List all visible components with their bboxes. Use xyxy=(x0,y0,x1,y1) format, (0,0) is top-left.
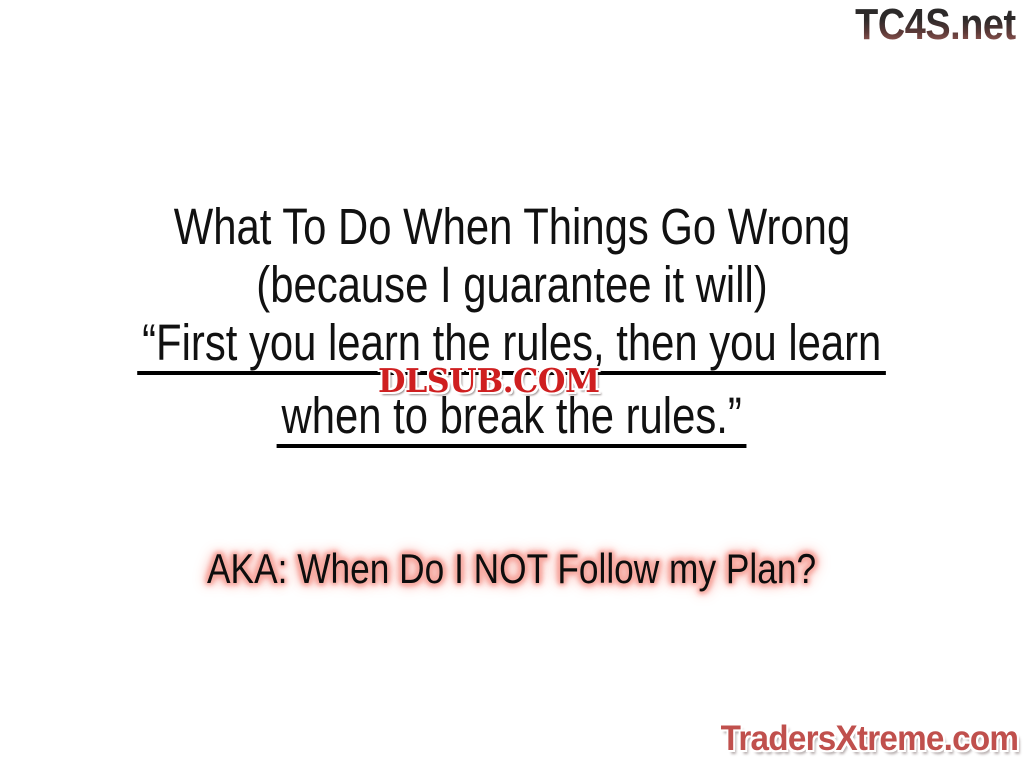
dlsub-overlay-watermark: DLSUB.COM xyxy=(378,364,600,398)
quote-line-2: when to break the rules.” xyxy=(277,393,747,448)
slide-main-text-block: What To Do When Things Go Wrong (because… xyxy=(0,198,1024,448)
aka-subtitle-text: AKA: When Do I NOT Follow my Plan? xyxy=(207,545,816,593)
slide-title-line-2: (because I guarantee it will) xyxy=(92,256,932,314)
slide-title-line-1: What To Do When Things Go Wrong xyxy=(92,198,932,256)
aka-subtitle-container: AKA: When Do I NOT Follow my Plan? xyxy=(0,545,1024,593)
presentation-slide: TC4S.net What To Do When Things Go Wrong… xyxy=(0,0,1024,768)
tc4s-site-watermark: TC4S.net xyxy=(855,2,1016,48)
quote-line-2-container: when to break the rules.” xyxy=(0,393,1024,448)
tradersxtreme-site-watermark: TradersXtreme.com xyxy=(720,720,1018,758)
